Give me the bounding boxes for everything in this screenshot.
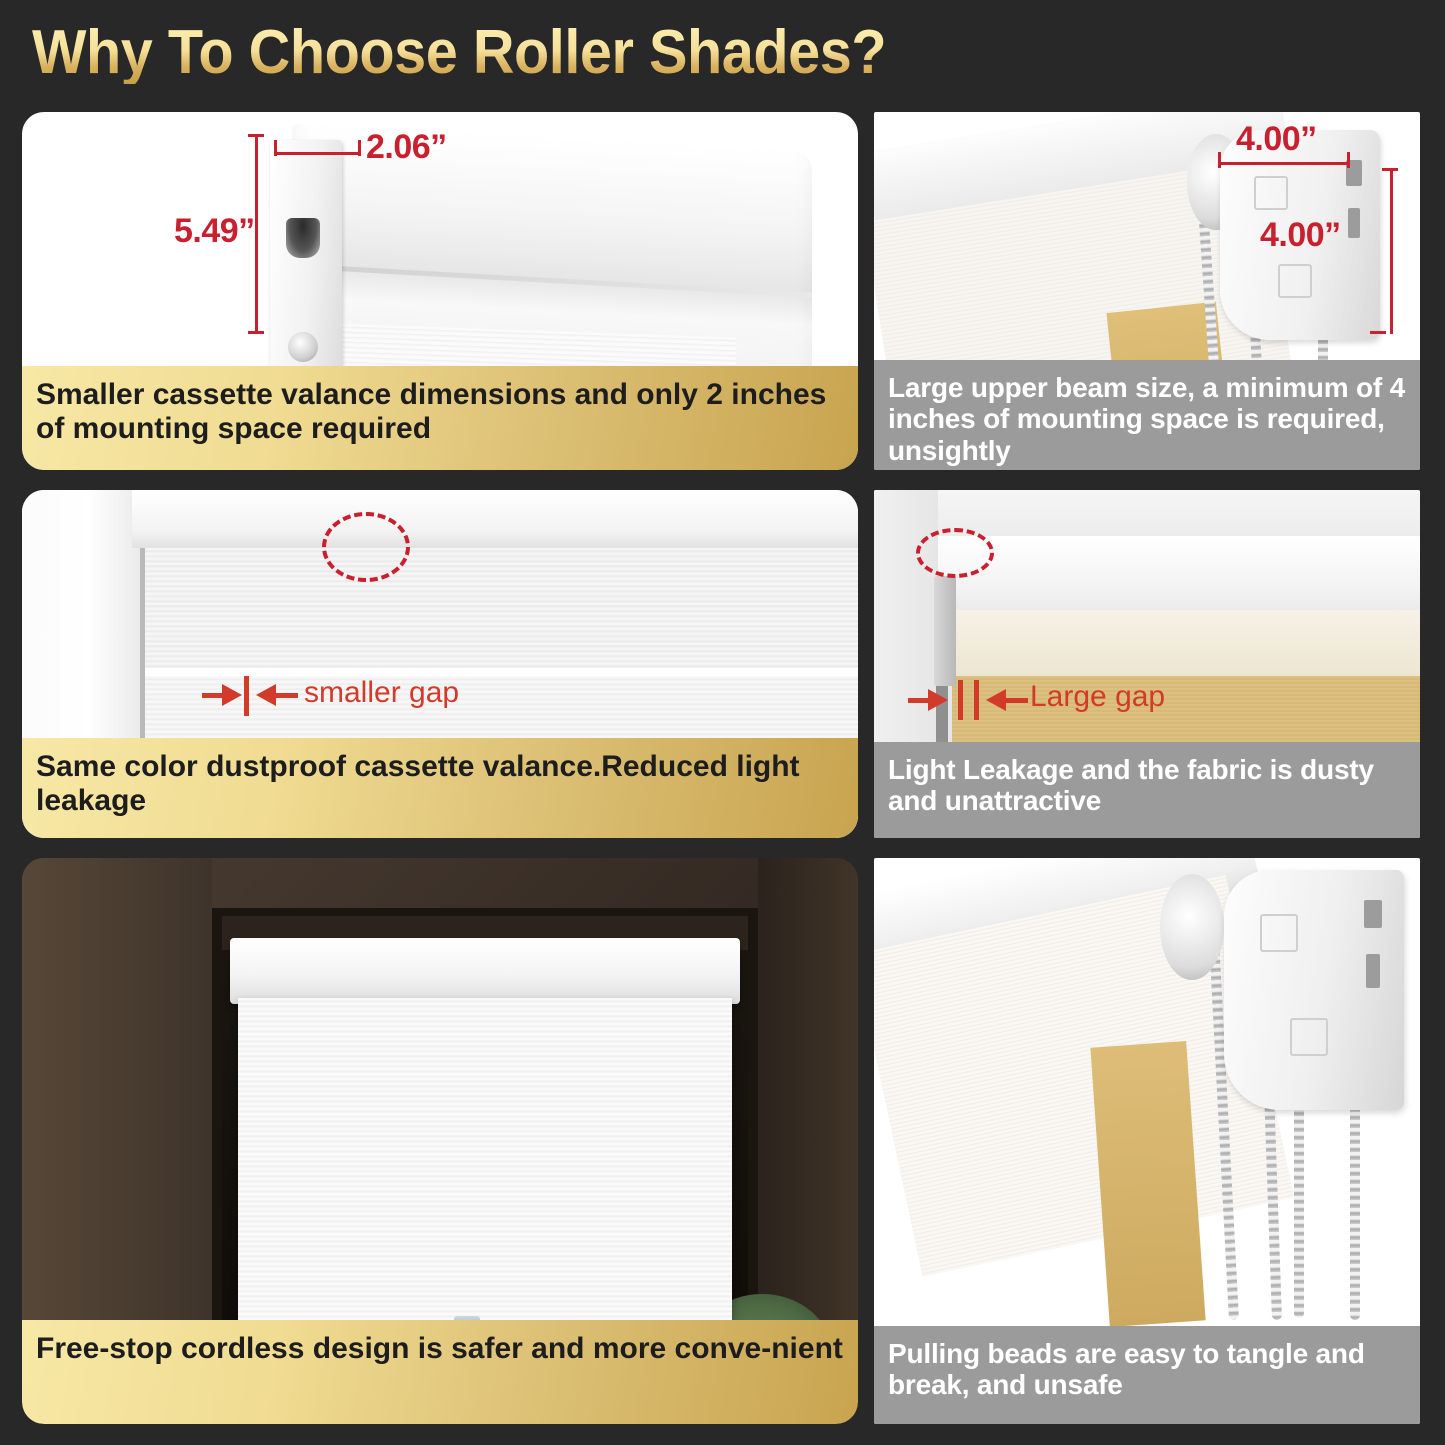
valance-band-illustration: [144, 548, 858, 668]
caption-large-upper-beam: Large upper beam size, a minimum of 4 in…: [874, 360, 1420, 470]
bracket-slot-icon: [1366, 954, 1380, 988]
panel-large-upper-beam: 4.00” 4.00” Large upper beam size, a min…: [874, 112, 1420, 470]
infographic-page: Why To Choose Roller Shades? 2.06”: [0, 0, 1445, 1445]
width-dimension-label: 2.06”: [366, 128, 447, 167]
beam-height-tick-bottom: [1370, 331, 1386, 334]
gap-arrow-left: [928, 689, 948, 711]
height-dimension-line: [255, 134, 258, 334]
beam-height-dimension-label: 4.00”: [1260, 216, 1341, 255]
highlight-dashed-circle: [322, 512, 410, 582]
caption-pulling-beads-unsafe: Pulling beads are easy to tangle and bre…: [874, 1326, 1420, 1424]
gap-arrow-right: [256, 684, 276, 706]
caption-free-stop-cordless: Free-stop cordless design is safer and m…: [22, 1320, 858, 1424]
caption-dustproof-cassette-valance: Same color dustproof cassette valance.Re…: [22, 738, 858, 838]
gap-arrow-left-tail: [202, 693, 224, 698]
height-dimension-tick-bottom: [248, 331, 264, 334]
gap-marker-bar: [244, 676, 249, 716]
cassette-valance-illustration: [230, 938, 740, 1004]
roller-end-cap-illustration: [1160, 874, 1224, 980]
bracket-emboss-icon: [1260, 914, 1298, 952]
gap-arrow-right-tail: [276, 693, 298, 698]
bracket-slot-icon: [1364, 900, 1382, 928]
panel-pulling-beads-unsafe: Pulling beads are easy to tangle and bre…: [874, 858, 1420, 1424]
beam-height-tick-top: [1382, 168, 1398, 171]
mounting-bracket-illustration: [1224, 870, 1404, 1110]
beam-width-dimension-line: [1218, 162, 1350, 165]
tan-fabric-illustration: [1090, 1041, 1205, 1327]
roller-mechanism-illustration: [934, 576, 956, 686]
comparison-grid: 2.06” 5.49” Smaller cassette valance dim…: [0, 0, 1445, 1445]
panel-cassette-valance-dimensions: 2.06” 5.49” Smaller cassette valance dim…: [22, 112, 858, 470]
beam-height-dimension-line: [1390, 168, 1393, 334]
gap-arrow-right: [986, 689, 1006, 711]
gap-arrow-right-tail: [1006, 698, 1028, 703]
caption-light-leakage: Light Leakage and the fabric is dusty an…: [874, 742, 1420, 838]
height-dimension-tick-top: [248, 134, 264, 137]
window-head-illustration: [132, 490, 858, 548]
cream-fabric-illustration: [936, 610, 1420, 676]
panel-light-leakage: Large gap Light Leakage and the fabric i…: [874, 490, 1420, 838]
height-dimension-label: 5.49”: [174, 212, 255, 251]
bracket-emboss-icon: [1278, 264, 1312, 298]
highlight-dashed-circle: [916, 528, 994, 578]
panel-free-stop-cordless: Free-stop cordless design is safer and m…: [22, 858, 858, 1424]
caption-cassette-valance-dimensions: Smaller cassette valance dimensions and …: [22, 366, 858, 470]
gap-marker-bar: [974, 680, 979, 720]
width-dimension-tick-left: [274, 140, 277, 156]
gap-label-smaller: smaller gap: [304, 676, 459, 710]
gap-arrow-left: [222, 684, 242, 706]
panel-dustproof-cassette-valance: smaller gap Same color dustproof cassett…: [22, 490, 858, 838]
roller-shade-fabric: [238, 998, 732, 1333]
beam-width-tick-right: [1347, 152, 1350, 168]
valance-end-bracket-illustration: [270, 140, 342, 388]
bracket-emboss-icon: [1290, 1018, 1328, 1056]
gap-arrow-left-tail: [908, 698, 930, 703]
width-dimension-line: [274, 152, 360, 155]
bracket-slot-icon: [286, 218, 320, 258]
gap-marker-bar: [958, 680, 963, 720]
bracket-slot-icon: [1348, 208, 1360, 238]
beam-width-dimension-label: 4.00”: [1236, 120, 1317, 159]
bracket-screw-icon: [288, 332, 318, 362]
width-dimension-tick-right: [358, 140, 361, 156]
gap-label-large: Large gap: [1030, 680, 1165, 714]
bracket-emboss-icon: [1254, 176, 1288, 210]
beam-width-tick-left: [1218, 152, 1221, 168]
